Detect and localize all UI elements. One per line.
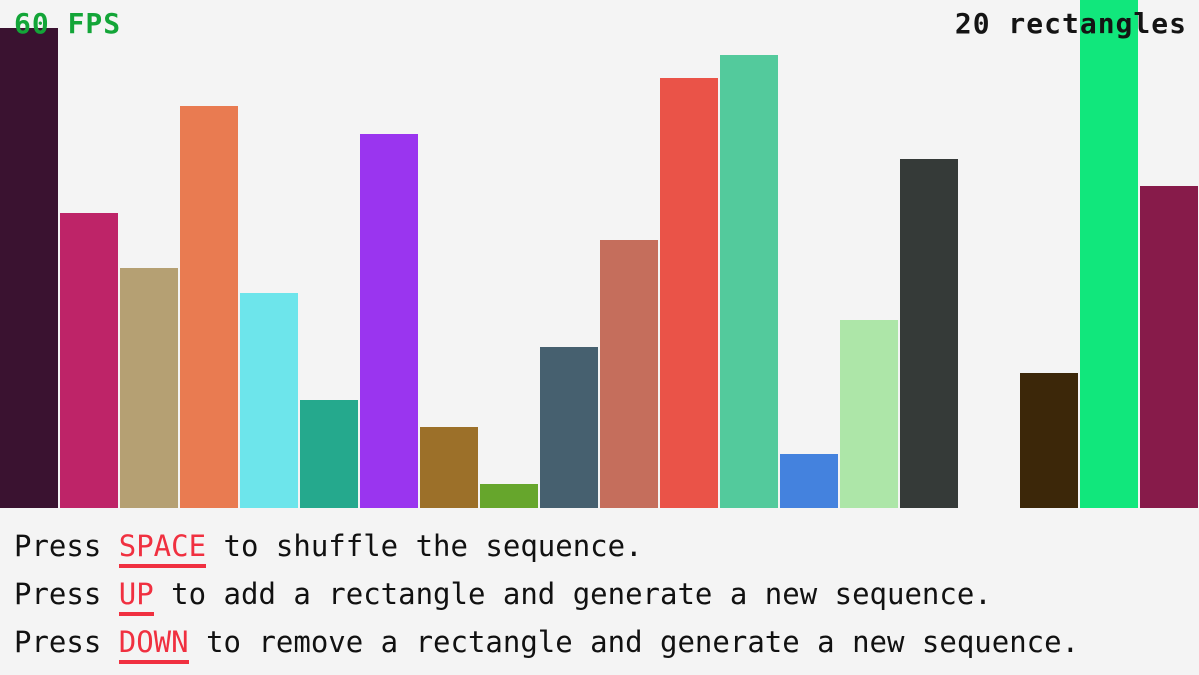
bar-rectangle — [240, 293, 298, 508]
bar-rectangle — [360, 134, 418, 508]
instruction-line: Press SPACE to shuffle the sequence. — [14, 522, 1199, 570]
bar-rectangle — [180, 106, 238, 508]
bar-rectangle — [1020, 373, 1078, 508]
instruction-suffix: to shuffle the sequence. — [206, 529, 643, 563]
bar-rectangle — [420, 427, 478, 508]
instruction-suffix: to add a rectangle and generate a new se… — [154, 577, 992, 611]
bar-rectangle — [840, 320, 898, 508]
instructions-panel: Press SPACE to shuffle the sequence.Pres… — [0, 508, 1199, 675]
bar-rectangle — [780, 454, 838, 508]
key-up[interactable]: UP — [119, 577, 154, 616]
instruction-prefix: Press — [14, 625, 119, 659]
instruction-prefix: Press — [14, 577, 119, 611]
bar-rectangle — [120, 268, 178, 508]
game-canvas: 60 FPS 20 rectangles Press SPACE to shuf… — [0, 0, 1199, 675]
instruction-suffix: to remove a rectangle and generate a new… — [189, 625, 1079, 659]
bar-rectangle — [60, 213, 118, 508]
bar-rectangle — [480, 484, 538, 508]
bar-rectangle — [900, 159, 958, 508]
bar-rectangle — [600, 240, 658, 508]
instruction-prefix: Press — [14, 529, 119, 563]
bar-rectangle — [660, 78, 718, 508]
instruction-line: Press DOWN to remove a rectangle and gen… — [14, 618, 1199, 666]
bar-rectangle — [300, 400, 358, 508]
key-down[interactable]: DOWN — [119, 625, 189, 664]
bar-rectangle — [540, 347, 598, 508]
bar-rectangle — [720, 55, 778, 508]
instruction-line: Press UP to add a rectangle and generate… — [14, 570, 1199, 618]
bar-rectangle — [0, 28, 58, 508]
key-space[interactable]: SPACE — [119, 529, 206, 568]
bar-chart-plot — [0, 0, 1199, 508]
bar-rectangle — [1140, 186, 1198, 508]
bar-rectangle — [1080, 0, 1138, 508]
